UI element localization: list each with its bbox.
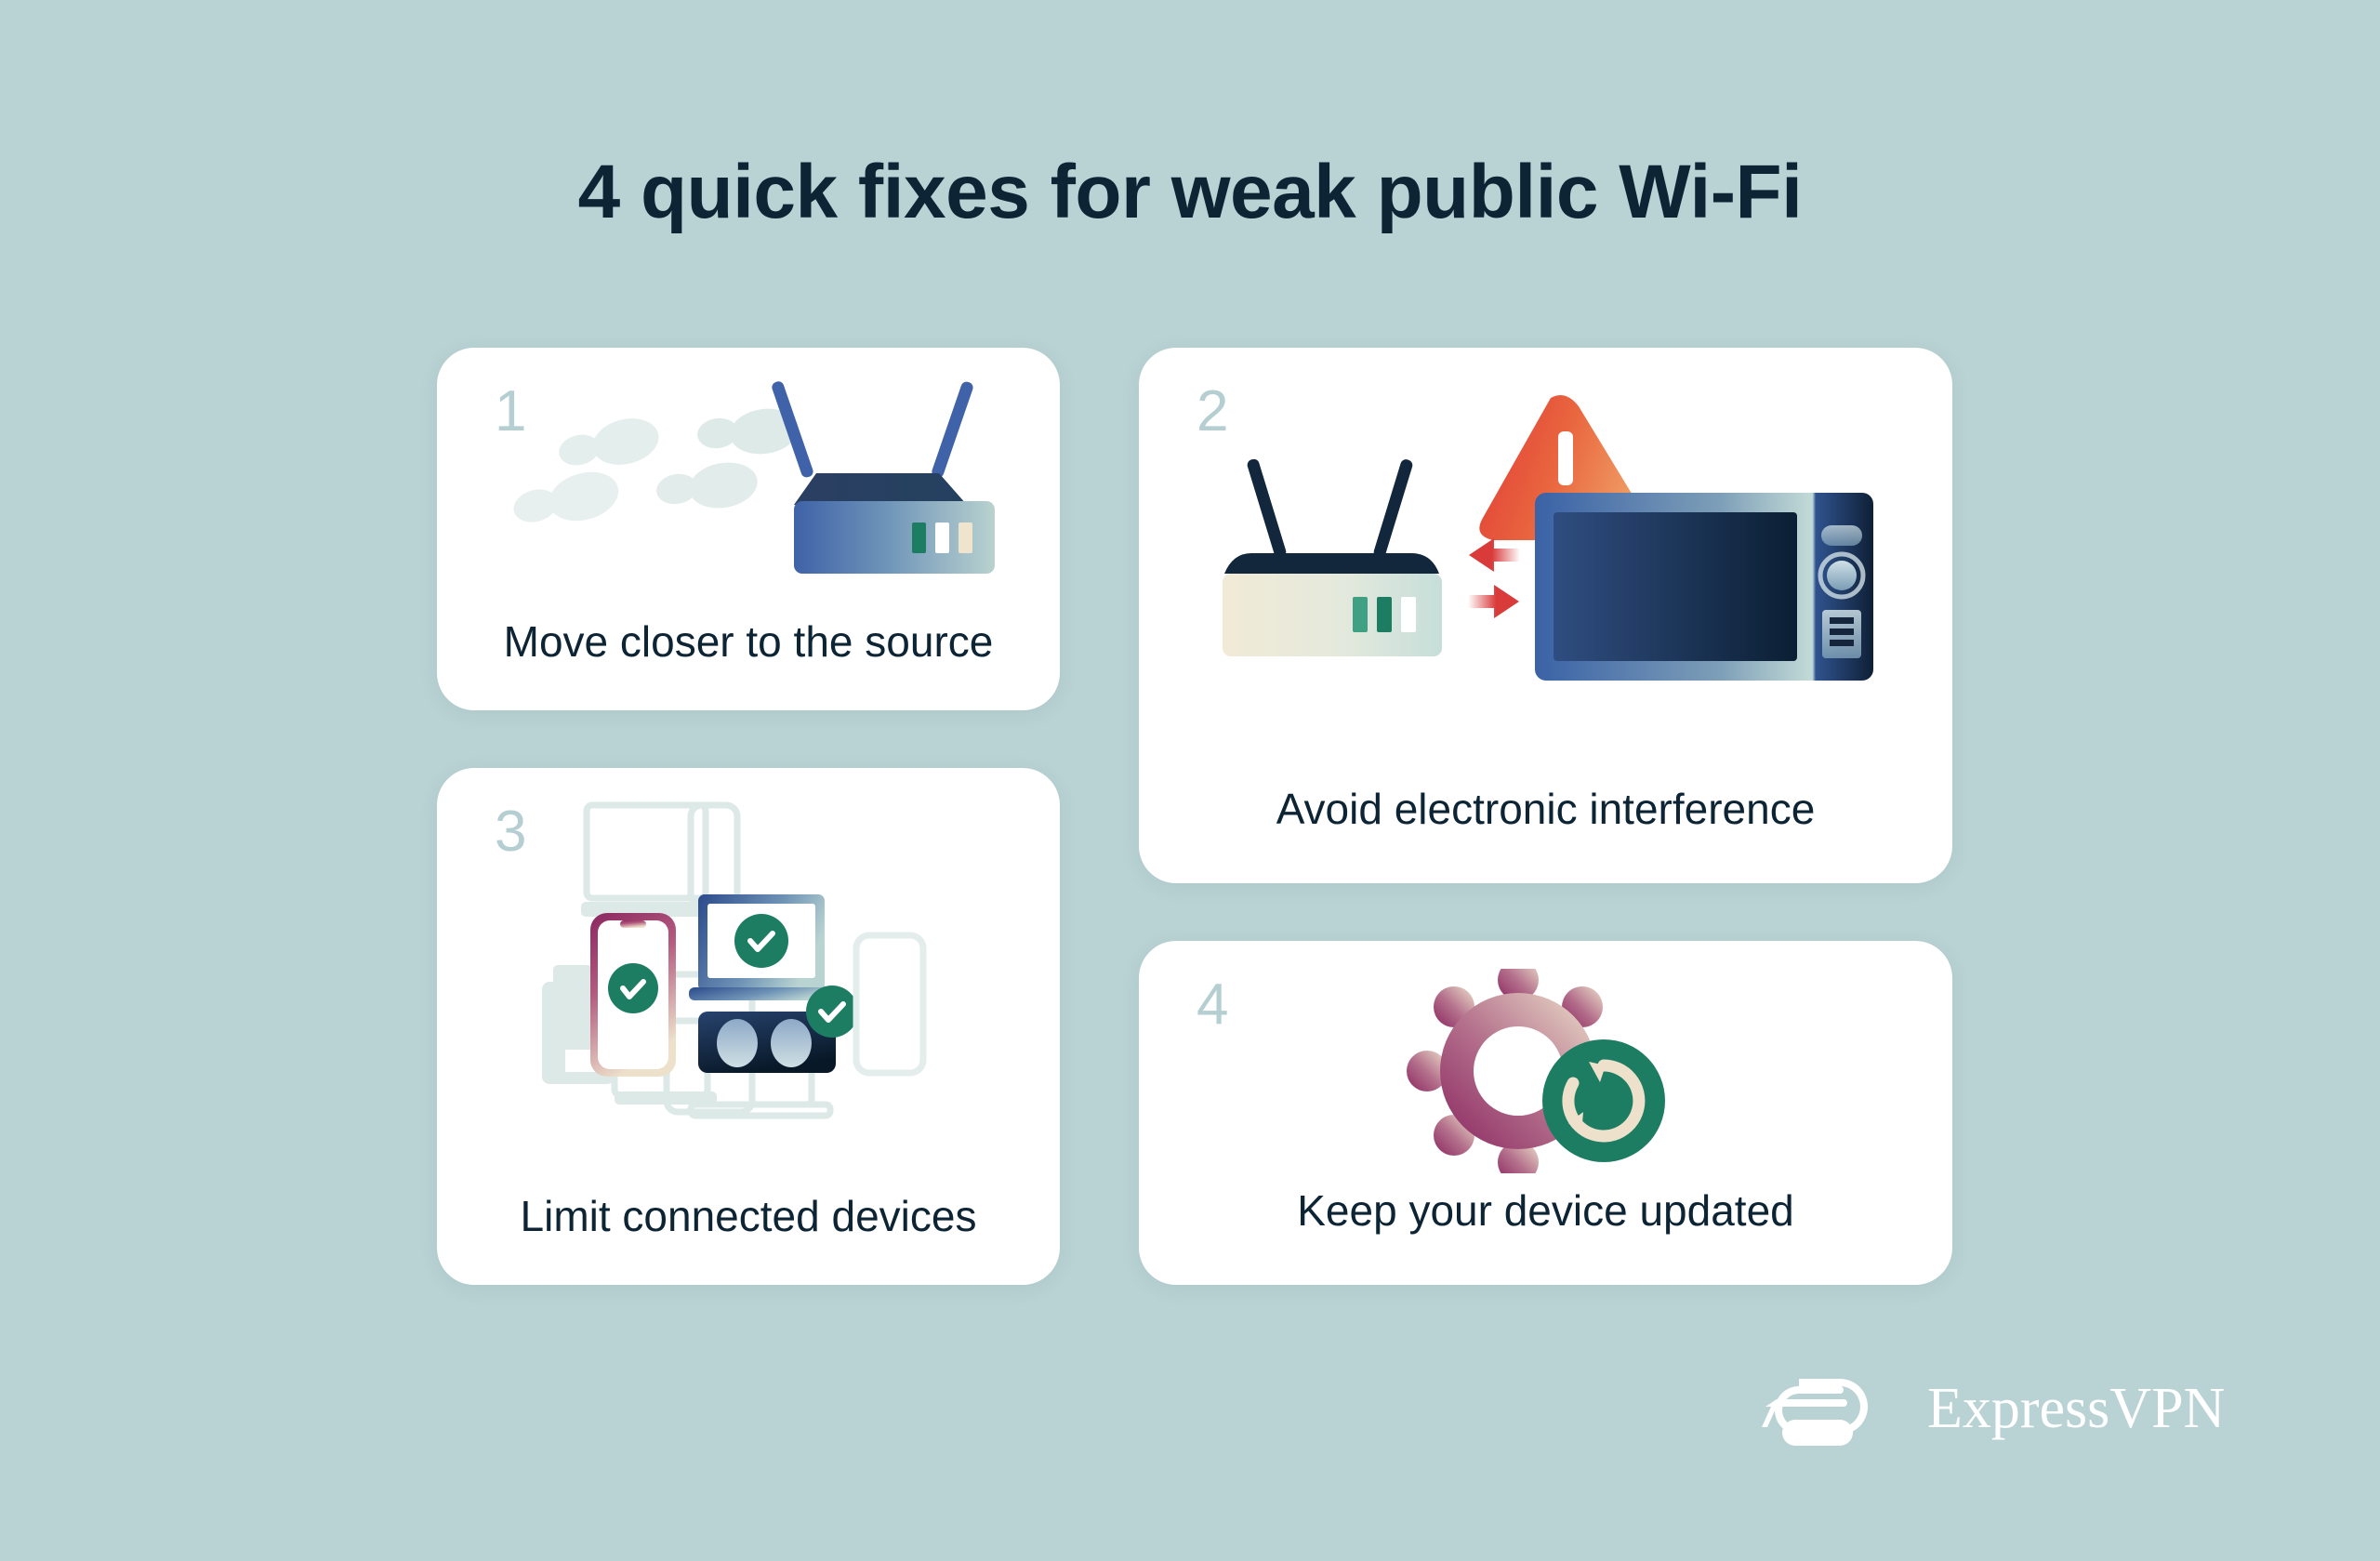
card-caption-2: Avoid electronic interference — [1139, 783, 1952, 835]
ghost-phone-right — [856, 935, 923, 1073]
check-badge-laptop — [734, 914, 788, 968]
card-caption-4: Keep your device updated — [1139, 1184, 1952, 1237]
connected-devices-illustration — [525, 800, 981, 1153]
footprints-and-router-illustration — [474, 368, 1032, 601]
check-badge-phone — [608, 963, 658, 1013]
router-icon — [771, 380, 995, 574]
card-caption-1: Move closer to the source — [437, 615, 1060, 668]
phone-device — [590, 913, 676, 1077]
expressvpn-wordmark: ExpressVPN — [1927, 1377, 2225, 1440]
card-number-3: 3 — [495, 803, 526, 861]
gear-refresh-illustration — [1407, 969, 1686, 1173]
tip-card-1: 1 — [437, 348, 1060, 710]
laptop-device — [689, 894, 834, 1000]
card-number-4: 4 — [1197, 976, 1228, 1034]
page-title: 4 quick fixes for weak public Wi-Fi — [0, 149, 2380, 236]
footprints-icon — [509, 404, 801, 528]
card-caption-3: Limit connected devices — [437, 1190, 1060, 1242]
expressvpn-logo: ExpressVPN — [1762, 1362, 2282, 1455]
microwave-icon — [1535, 493, 1873, 681]
tip-card-2: 2 — [1139, 348, 1952, 883]
cards-grid: 1 — [437, 348, 1952, 1285]
infographic-page: 4 quick fixes for weak public Wi-Fi 1 — [0, 0, 2380, 1561]
refresh-icon — [1542, 1039, 1665, 1162]
tip-card-3: 3 — [437, 768, 1060, 1285]
check-badge-device — [806, 986, 858, 1038]
expressvpn-mark-icon — [1762, 1379, 1868, 1446]
router-icon — [1223, 457, 1442, 656]
tip-card-4: 4 — [1139, 941, 1952, 1285]
interference-arrows-icon — [1468, 538, 1520, 618]
router-warning-microwave-illustration — [1223, 389, 1873, 705]
